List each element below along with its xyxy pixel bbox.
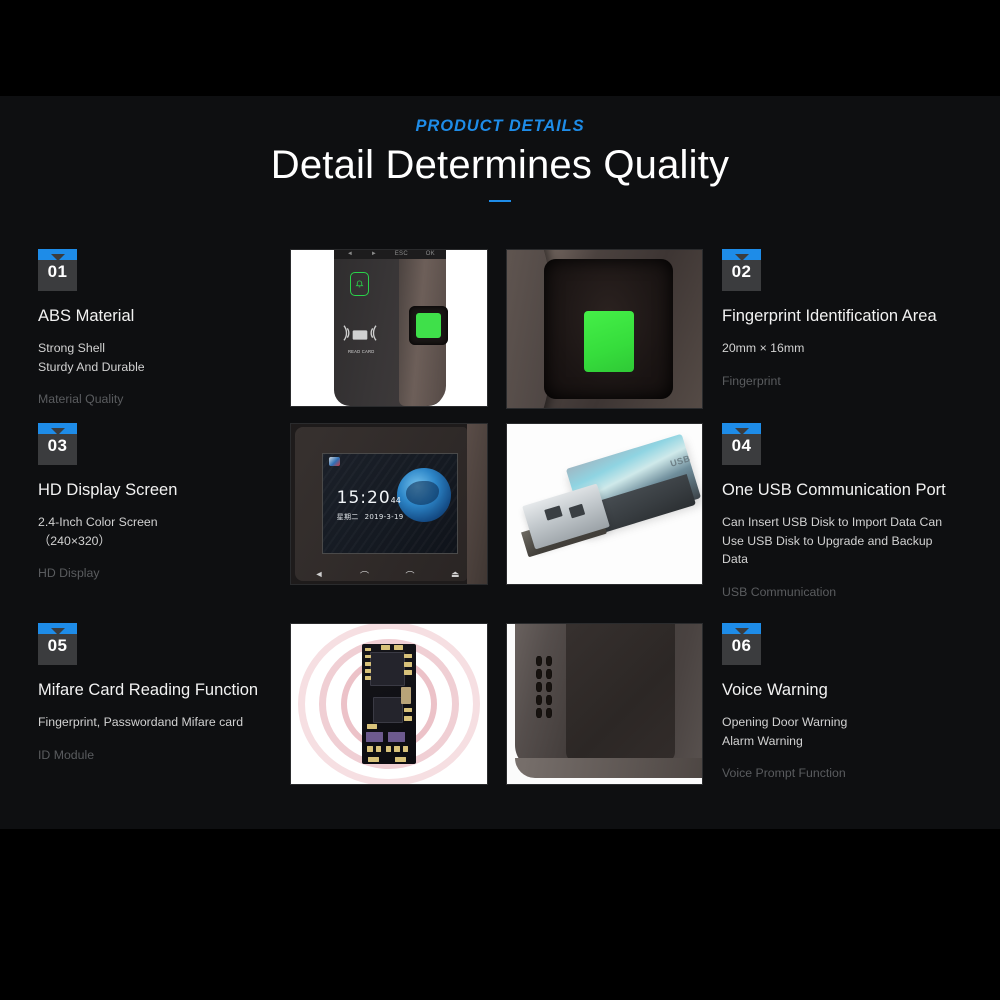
pcb-pad [404, 708, 412, 713]
pcb-chip-small [373, 697, 403, 723]
feature-description: Opening Door Warning Alarm Warning [722, 713, 954, 750]
badge-03: 03 [38, 423, 77, 465]
pcb-pad [386, 746, 391, 752]
badge-notch-icon [51, 428, 65, 435]
device-key-row: ◄ ► ESC OK [338, 251, 444, 257]
pcb-pad [365, 655, 370, 659]
badge-notch-icon [735, 628, 749, 635]
badge-04: 04 [722, 423, 761, 465]
feature-title: One USB Communication Port [722, 480, 954, 501]
eyebrow-label: PRODUCT DETAILS [0, 117, 1000, 136]
grille-hole [546, 695, 552, 705]
rfid-pcb-board [362, 644, 416, 764]
grille-hole [546, 708, 552, 718]
grille-hole [546, 669, 552, 679]
fingerprint-sensor-frame [409, 306, 448, 345]
read-card-icon: READ CARD [342, 322, 388, 352]
usb-slot-b [568, 504, 585, 518]
badge-notch-icon [735, 428, 749, 435]
screen-clock-time: 15:2044 [337, 488, 401, 508]
keypad-key-1-icon: ◄ [315, 569, 324, 582]
feature-block-04: 04 One USB Communication Port Can Insert… [722, 423, 954, 601]
photo-hd-display[interactable]: 15:2044 星期二2019-3-19 ◄ ⌒ ⌒ ⏏ [290, 423, 488, 585]
bell-icon [350, 272, 369, 296]
badge-number: 05 [38, 636, 77, 656]
pcb-pad [365, 662, 370, 666]
grille-hole [536, 656, 542, 666]
badge-number: 03 [38, 436, 77, 456]
screen-date-line: 星期二2019-3-19 [337, 512, 404, 522]
keypad-key-2-icon: ⌒ [360, 569, 369, 582]
feature-tag: USB Communication [722, 584, 954, 601]
feature-block-06: 06 Voice Warning Opening Door Warning Al… [722, 623, 954, 783]
feature-title: HD Display Screen [38, 480, 270, 501]
feature-block-01: 01 ABS Material Strong Shell Sturdy And … [38, 249, 270, 409]
badge-notch-icon [51, 254, 65, 261]
photo-rfid-module[interactable] [290, 623, 488, 785]
pcb-pad [404, 662, 412, 667]
badge-number: 02 [722, 262, 761, 282]
display-keypad-row: ◄ ⌒ ⌒ ⏏ [315, 569, 460, 582]
speaker-device-face [566, 623, 675, 762]
fingerprint-sensor-pad [416, 313, 441, 338]
feature-block-05: 05 Mifare Card Reading Function Fingerpr… [38, 623, 270, 764]
badge-06: 06 [722, 623, 761, 665]
pcb-connector [401, 687, 411, 704]
title-underline-rule [489, 200, 511, 202]
photo-speaker-corner[interactable] [506, 623, 703, 785]
pcb-pad [376, 746, 381, 752]
feature-tag: Fingerprint [722, 373, 954, 390]
grille-hole [546, 656, 552, 666]
pcb-pad [394, 746, 399, 752]
feature-tag: HD Display [38, 565, 270, 582]
usb-connector [522, 484, 610, 550]
badge-number: 01 [38, 262, 77, 282]
letterbox-bottom [0, 829, 1000, 1000]
screen-weekday: 星期二 [337, 513, 359, 521]
feature-title: Mifare Card Reading Function [38, 680, 270, 701]
photo-usb-drive[interactable]: USB [506, 423, 703, 585]
feature-description: 20mm × 16mm [722, 339, 954, 358]
pcb-pad [395, 757, 406, 762]
key-ok-label: OK [426, 251, 435, 257]
feature-tag: Voice Prompt Function [722, 765, 954, 782]
content-stage: PRODUCT DETAILS Detail Determines Qualit… [0, 96, 1000, 829]
screen-date: 2019-3-19 [365, 513, 404, 521]
display-status-logo-icon [329, 457, 340, 466]
badge-number: 04 [722, 436, 761, 456]
badge-notch-icon [735, 254, 749, 261]
feature-title: Fingerprint Identification Area [722, 306, 954, 327]
speaker-grille-icon [536, 656, 552, 718]
grille-hole [536, 708, 542, 718]
pcb-pad [404, 670, 412, 675]
page-header: PRODUCT DETAILS Detail Determines Qualit… [0, 96, 1000, 202]
read-card-label: READ CARD [348, 349, 374, 354]
macro-sensor-pad [584, 311, 634, 372]
pcb-pad [367, 746, 372, 752]
usb-slot-a [544, 506, 562, 522]
feature-tag: Material Quality [38, 391, 270, 408]
photo-device-panel[interactable]: ◄ ► ESC OK [290, 249, 488, 407]
pcb-pad [403, 746, 408, 752]
pcb-pad [394, 645, 403, 650]
pcb-component-purple [388, 732, 405, 743]
badge-notch-icon [51, 628, 65, 635]
key-left-icon: ◄ [347, 251, 353, 257]
pcb-pad [368, 757, 379, 762]
feature-block-03: 03 HD Display Screen 2.4-Inch Color Scre… [38, 423, 270, 583]
grille-hole [536, 669, 542, 679]
feature-block-02: 02 Fingerprint Identification Area 20mm … [722, 249, 954, 390]
speaker-device-edge [515, 758, 703, 777]
pcb-pad [381, 645, 390, 650]
globe-wallpaper-icon [397, 468, 451, 522]
key-right-icon: ► [371, 251, 377, 257]
page-title: Detail Determines Quality [0, 143, 1000, 188]
grille-hole [546, 682, 552, 692]
feature-description: Can Insert USB Disk to Import Data Can U… [722, 513, 954, 569]
grille-hole [536, 682, 542, 692]
keypad-key-4-icon: ⏏ [451, 569, 460, 582]
badge-01: 01 [38, 249, 77, 291]
product-details-page: PRODUCT DETAILS Detail Determines Qualit… [0, 0, 1000, 1000]
badge-05: 05 [38, 623, 77, 665]
clock-seconds: 44 [391, 496, 401, 505]
badge-number: 06 [722, 636, 761, 656]
feature-description: Fingerprint, Passwordand Mifare card [38, 713, 270, 732]
letterbox-top [0, 0, 1000, 96]
feature-tag: ID Module [38, 747, 270, 764]
key-esc-label: ESC [395, 251, 408, 257]
badge-02: 02 [722, 249, 761, 291]
feature-description: Strong Shell Sturdy And Durable [38, 339, 270, 376]
pcb-pad [365, 676, 370, 680]
display-side-panel [467, 424, 487, 584]
pcb-pad [367, 724, 377, 729]
pcb-pad [404, 716, 412, 721]
display-screen: 15:2044 星期二2019-3-19 [322, 453, 457, 554]
pcb-chip-large [370, 652, 405, 685]
macro-recess-well [544, 259, 673, 398]
feature-description: 2.4-Inch Color Screen （240×320） [38, 513, 270, 550]
pcb-pad [365, 669, 370, 673]
pcb-pad [365, 648, 370, 652]
feature-title: Voice Warning [722, 680, 954, 701]
pcb-pad [404, 654, 412, 659]
grille-hole [536, 695, 542, 705]
photo-sensor-macro[interactable] [506, 249, 703, 409]
pcb-component-purple [366, 732, 382, 743]
clock-hhmm: 15:20 [337, 488, 391, 508]
keypad-key-3-icon: ⌒ [405, 569, 414, 582]
feature-title: ABS Material [38, 306, 270, 327]
